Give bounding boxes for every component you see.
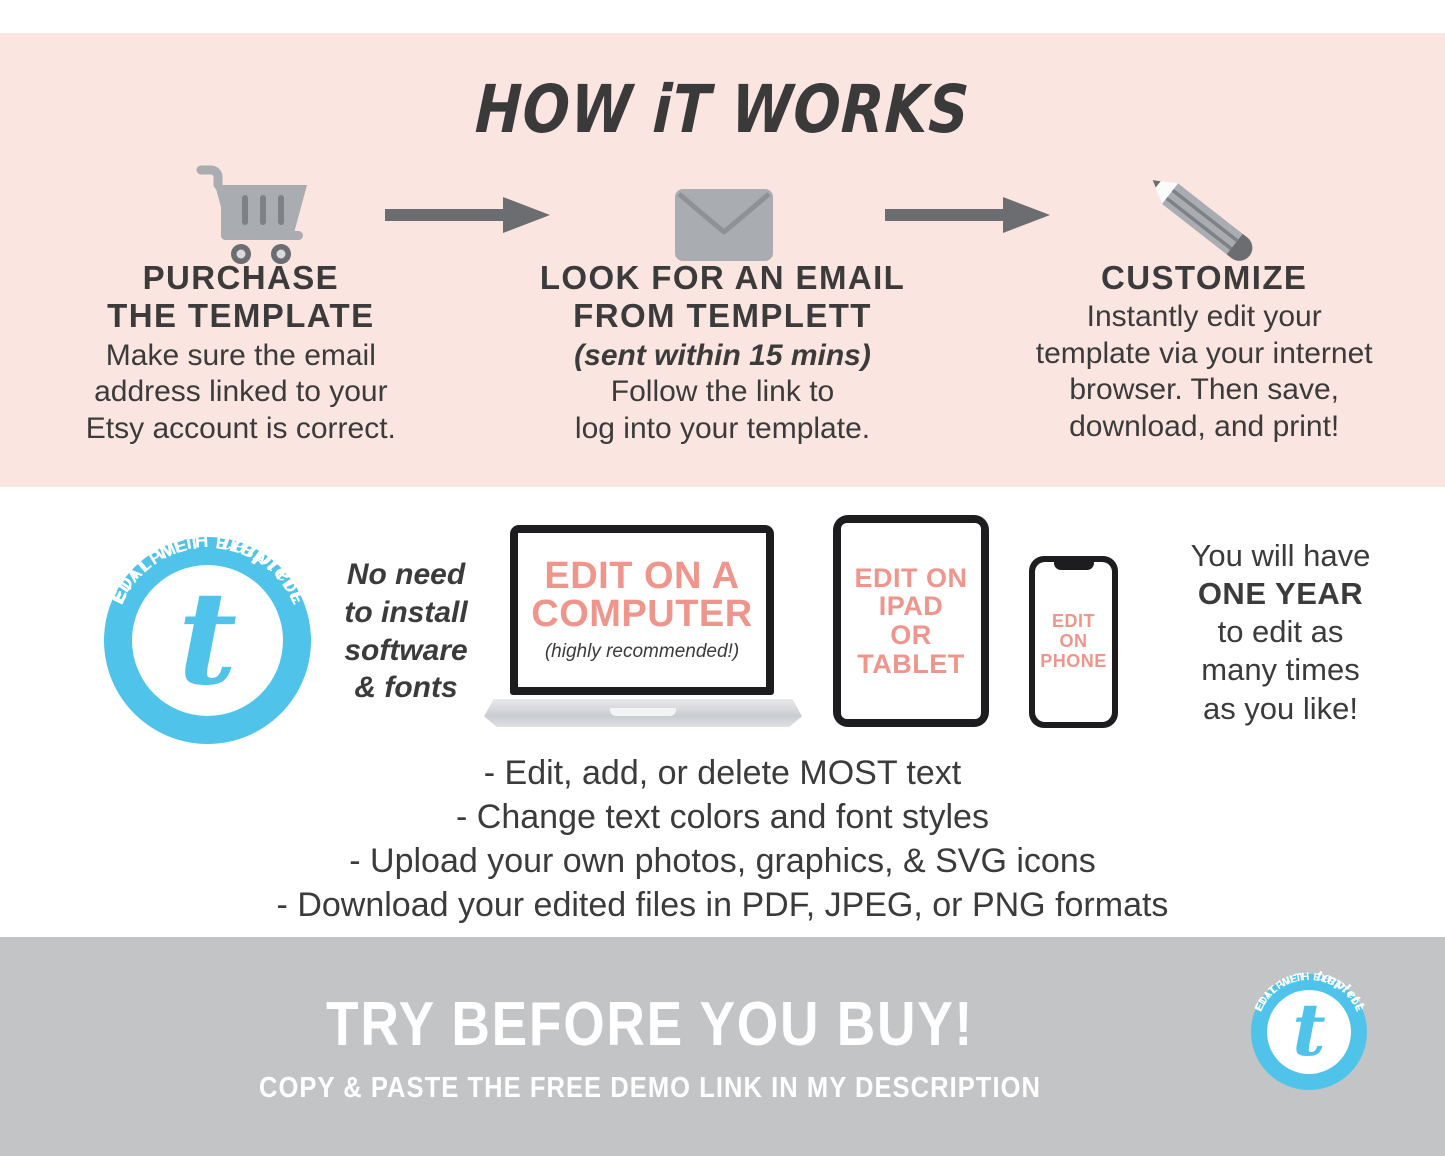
shopping-cart-icon [195, 165, 317, 265]
laptop-subtitle: (highly recommended!) [545, 641, 739, 663]
no-install-line4: & fonts [330, 669, 482, 707]
hero-section: HOW iT WORKS [0, 33, 1445, 487]
laptop-screen: EDIT ON A COMPUTER (highly recommended!) [518, 533, 766, 687]
phone-notch [1054, 562, 1094, 570]
one-year-line5: as you like! [1128, 690, 1433, 728]
tablet-title-line2: IPAD [854, 592, 967, 621]
steps-icon-row [0, 161, 1445, 273]
steps-text-row: PURCHASE THE TEMPLATE Make sure the emai… [0, 259, 1445, 447]
footer-headline: TRY BEFORE YOU BUY! [91, 989, 1209, 1060]
list-item: - Download your edited files in PDF, JPE… [0, 884, 1445, 928]
arrow-right-icon [885, 197, 1050, 233]
step-1-body-line2: address linked to your [8, 374, 474, 411]
laptop-base [484, 699, 802, 727]
step-1-body-line3: Etsy account is correct. [8, 411, 474, 448]
step-2-heading-line2: FROM TEMPLETT [490, 297, 956, 335]
step-2-note: (sent within 15 mins) [490, 338, 956, 375]
envelope-icon [675, 189, 773, 261]
step-3-body-line1: Instantly edit your [971, 299, 1437, 336]
tablet-title-line3: OR [854, 621, 967, 650]
step-1-heading-line2: THE TEMPLATE [8, 297, 474, 335]
no-install-line3: software [330, 632, 482, 670]
step-2-body-line2: log into your template. [490, 411, 956, 448]
step-3-heading-line1: CUSTOMIZE [971, 259, 1437, 297]
no-install-note: No need to install software & fonts [330, 556, 482, 707]
list-item: - Edit, add, or delete MOST text [0, 752, 1445, 796]
laptop-mockup: EDIT ON A COMPUTER (highly recommended!) [484, 525, 802, 727]
one-year-line4: many times [1128, 651, 1433, 689]
footer-subline: COPY & PASTE THE FREE DEMO LINK IN MY DE… [78, 1072, 1222, 1105]
one-year-highlight: ONE YEAR [1198, 576, 1363, 611]
tablet-title-line1: EDIT ON [854, 564, 967, 593]
feature-bullet-list: - Edit, add, or delete MOST text - Chang… [0, 752, 1445, 927]
step-purchase: PURCHASE THE TEMPLATE Make sure the emai… [0, 259, 482, 447]
laptop-trackpad-notch [610, 708, 676, 716]
footer-banner: TRY BEFORE YOU BUY! COPY & PASTE THE FRE… [0, 937, 1445, 1156]
templett-t-letter: t [104, 575, 311, 703]
laptop-title-line1: EDIT ON A [531, 557, 752, 595]
page-title: HOW iT WORKS [114, 71, 1331, 148]
phone-screen: EDIT ON PHONE [1035, 562, 1112, 722]
step-2-heading-line1: LOOK FOR AN EMAIL [490, 259, 956, 297]
step-3-body-line3: browser. Then save, [971, 372, 1437, 409]
pencil-icon [1135, 167, 1263, 263]
laptop-title-line2: COMPUTER [531, 595, 752, 633]
list-item: - Upload your own photos, graphics, & SV… [0, 840, 1445, 884]
step-1-heading-line1: PURCHASE [8, 259, 474, 297]
no-install-line1: No need [330, 556, 482, 594]
step-3-body-line2: template via your internet [971, 336, 1437, 373]
one-year-line1: You will have [1128, 537, 1433, 575]
tablet-mockup: EDIT ON IPAD OR TABLET [833, 515, 989, 727]
tablet-screen: EDIT ON IPAD OR TABLET [841, 523, 981, 719]
templett-badge-footer: t EDIT WITH templett EDITABLE TEMPLATE [1251, 974, 1367, 1090]
step-look-for-email: LOOK FOR AN EMAIL FROM TEMPLETT (sent wi… [482, 259, 964, 447]
step-2-body-line1: Follow the link to [490, 374, 956, 411]
one-year-note: You will have ONE YEAR to edit as many t… [1128, 537, 1433, 728]
phone-mockup: EDIT ON PHONE [1029, 556, 1118, 728]
list-item: - Change text colors and font styles [0, 796, 1445, 840]
step-3-body-line4: download, and print! [971, 409, 1437, 446]
laptop-lid: EDIT ON A COMPUTER (highly recommended!) [510, 525, 774, 695]
phone-title-line3: PHONE [1040, 652, 1107, 672]
tablet-title-line4: TABLET [854, 650, 967, 679]
phone-title-line1: EDIT [1040, 612, 1107, 632]
no-install-line2: to install [330, 594, 482, 632]
step-1-body-line1: Make sure the email [8, 338, 474, 375]
phone-title-line2: ON [1040, 632, 1107, 652]
arrow-right-icon [385, 197, 550, 233]
templett-badge: t EDIT WITH templett EDITABLE TEMPLATE [104, 537, 311, 744]
step-customize: CUSTOMIZE Instantly edit your template v… [963, 259, 1445, 447]
one-year-line3: to edit as [1128, 613, 1433, 651]
